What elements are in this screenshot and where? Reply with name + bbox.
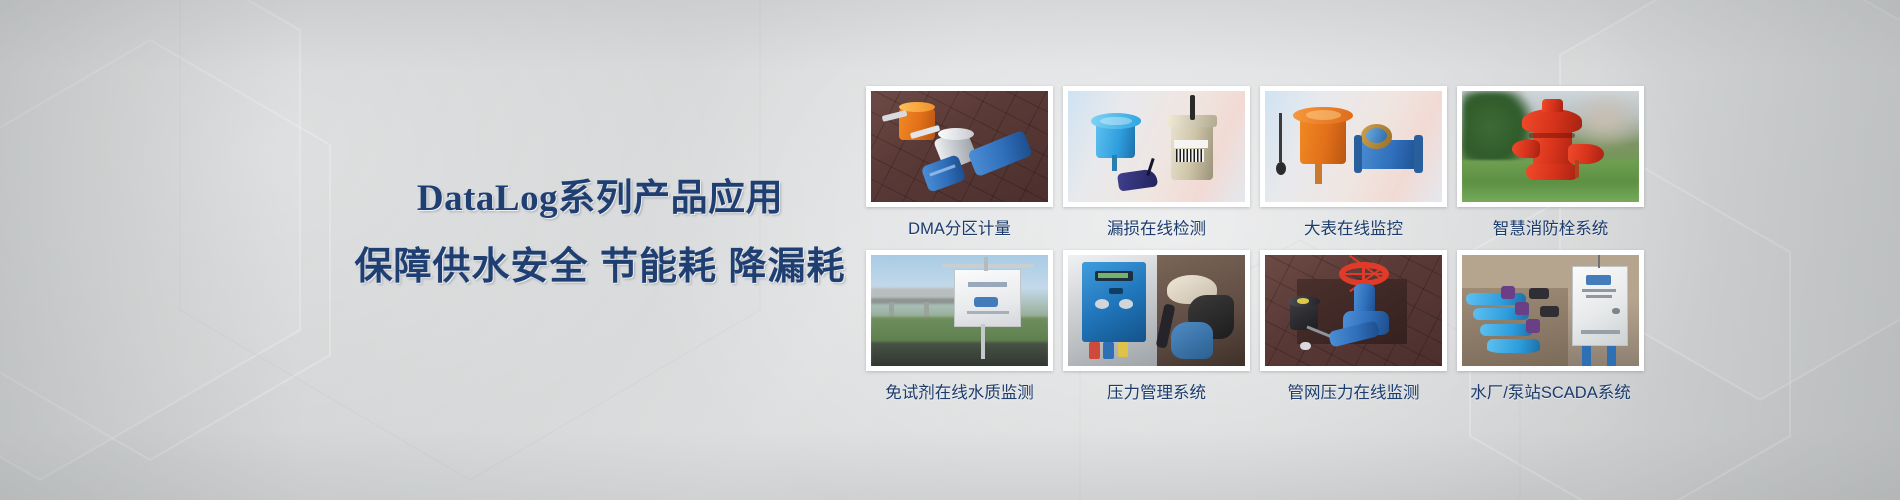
card-photo-frame: [866, 86, 1053, 207]
leak-noise-logger-devices-photo: [1068, 91, 1245, 202]
headline-secondary: 保障供水安全 节能耗 降漏耗: [320, 244, 880, 290]
product-card-network-pressure-monitoring[interactable]: 管网压力在线监测: [1260, 250, 1447, 404]
red-fire-hydrant-photo: [1462, 91, 1639, 202]
card-caption: DMA分区计量: [908, 218, 1011, 240]
product-card-reagent-free-water-quality[interactable]: 免试剂在线水质监测: [866, 250, 1053, 404]
dma-flow-meter-chamber-photo: [871, 91, 1048, 202]
red-handwheel-valve-chamber-photo: [1265, 255, 1442, 366]
card-caption: 免试剂在线水质监测: [885, 382, 1034, 404]
card-photo-frame: [1457, 250, 1644, 371]
product-application-banner: DataLog系列产品应用 保障供水安全 节能耗 降漏耗: [0, 0, 1900, 500]
product-card-pressure-management[interactable]: 压力管理系统: [1063, 250, 1250, 404]
card-caption: 管网压力在线监测: [1288, 382, 1420, 404]
headline-block: DataLog系列产品应用 保障供水安全 节能耗 降漏耗: [320, 176, 880, 290]
card-caption: 大表在线监控: [1304, 218, 1403, 240]
product-card-large-meter-monitoring[interactable]: 大表在线监控: [1260, 86, 1447, 240]
card-photo-frame: [1063, 250, 1250, 371]
product-card-leak-online-detection[interactable]: 漏损在线检测: [1063, 86, 1250, 240]
headline-primary: DataLog系列产品应用: [320, 176, 880, 222]
card-caption: 水厂/泵站SCADA系统: [1470, 382, 1630, 404]
water-quality-monitoring-station-photo: [871, 255, 1048, 366]
card-row-1: DMA分区计量: [866, 86, 1656, 240]
card-photo-frame: [1260, 250, 1447, 371]
card-caption: 智慧消防栓系统: [1493, 218, 1609, 240]
product-card-dma-metering[interactable]: DMA分区计量: [866, 86, 1053, 240]
product-card-smart-hydrant-system[interactable]: 智慧消防栓系统: [1457, 86, 1644, 240]
product-card-grid: DMA分区计量: [866, 86, 1656, 414]
product-card-scada-system[interactable]: 水厂/泵站SCADA系统: [1457, 250, 1644, 404]
card-row-2: 免试剂在线水质监测: [866, 250, 1656, 404]
card-photo-frame: [866, 250, 1053, 371]
large-water-meter-logger-photo: [1265, 91, 1442, 202]
blue-pressure-controller-cabinet-photo: [1068, 255, 1245, 366]
pump-station-scada-cabinet-photo: [1462, 255, 1639, 366]
card-caption: 漏损在线检测: [1107, 218, 1206, 240]
card-photo-frame: [1260, 86, 1447, 207]
card-photo-frame: [1457, 86, 1644, 207]
card-photo-frame: [1063, 86, 1250, 207]
card-caption: 压力管理系统: [1107, 382, 1206, 404]
